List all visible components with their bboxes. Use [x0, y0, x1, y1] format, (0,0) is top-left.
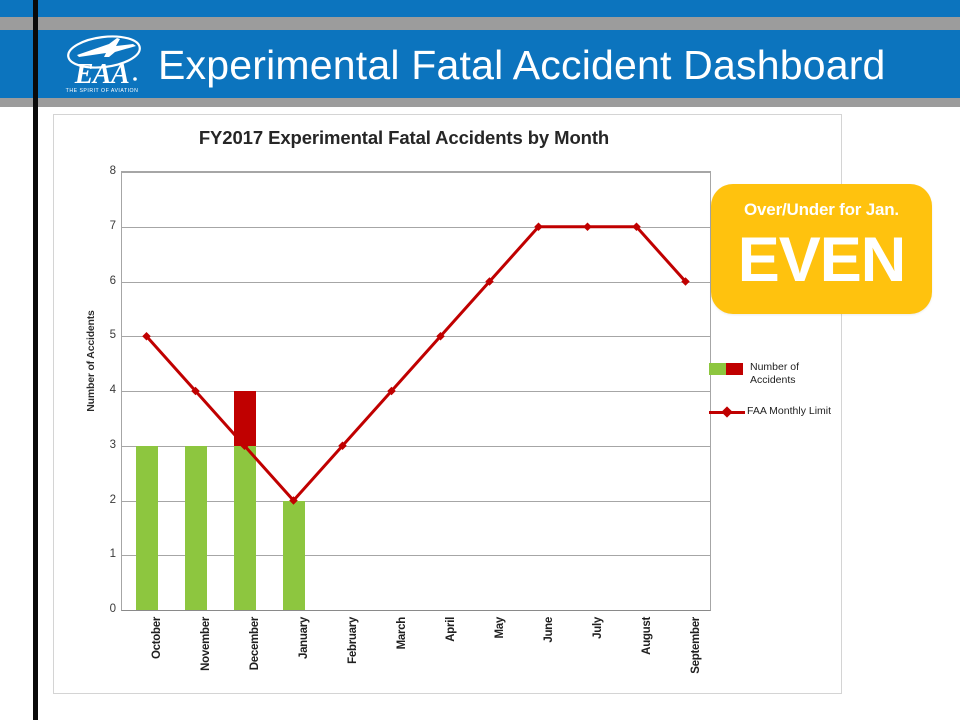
- x-tick-label: December: [249, 617, 261, 670]
- x-tick-label: November: [200, 617, 212, 671]
- callout-value: EVEN: [711, 224, 932, 296]
- eaa-logo: EAA THE SPIRIT OF AVIATION: [57, 33, 149, 95]
- x-tick-label: October: [151, 617, 163, 659]
- legend-label-line: FAA Monthly Limit: [747, 405, 831, 418]
- y-tick-label: 4: [86, 384, 116, 396]
- plot-area: [121, 171, 711, 611]
- x-tick-label: August: [641, 617, 653, 655]
- y-tick-label: 7: [86, 220, 116, 232]
- legend-swatch-red: [726, 363, 743, 375]
- faa-limit-line: [122, 172, 710, 610]
- y-tick-label: 2: [86, 494, 116, 506]
- x-tick-label: April: [445, 617, 457, 642]
- x-tick-label: September: [690, 617, 702, 674]
- y-tick-label: 1: [86, 548, 116, 560]
- legend-item-bars: Number of Accidents: [709, 361, 844, 387]
- x-tick-label: June: [543, 617, 555, 643]
- header-accent-band-top: [0, 0, 960, 17]
- y-tick-label: 8: [86, 165, 116, 177]
- y-tick-label: 3: [86, 439, 116, 451]
- svg-text:EAA: EAA: [74, 59, 130, 90]
- eaa-logo-icon: EAA THE SPIRIT OF AVIATION: [57, 33, 149, 95]
- x-tick-label: January: [298, 617, 310, 659]
- legend-swatch-bars: [709, 363, 743, 375]
- chart-title: FY2017 Experimental Fatal Accidents by M…: [54, 127, 754, 149]
- x-tick-label: March: [396, 617, 408, 649]
- x-tick-label: May: [494, 617, 506, 638]
- slide-left-rule: [33, 0, 38, 720]
- over-under-callout: Over/Under for Jan. EVEN: [711, 184, 932, 314]
- y-tick-label: 0: [86, 603, 116, 615]
- legend-marker-line: [709, 406, 745, 418]
- header-gray-band-top: [0, 17, 960, 30]
- line-marker: [583, 223, 591, 231]
- header-gray-band-bottom: [0, 98, 960, 107]
- legend-item-line: FAA Monthly Limit: [709, 405, 844, 418]
- x-axis-labels: OctoberNovemberDecemberJanuaryFebruaryMa…: [121, 613, 711, 701]
- callout-heading: Over/Under for Jan.: [711, 200, 932, 220]
- svg-text:THE SPIRIT OF AVIATION: THE SPIRIT OF AVIATION: [66, 88, 139, 94]
- slide-canvas: EAA THE SPIRIT OF AVIATION Experimental …: [0, 0, 960, 720]
- legend-label-bars: Number of Accidents: [750, 361, 844, 387]
- page-title: Experimental Fatal Accident Dashboard: [158, 36, 886, 94]
- y-tick-label: 6: [86, 275, 116, 287]
- y-tick-label: 5: [86, 329, 116, 341]
- legend-swatch-green: [709, 363, 726, 375]
- chart-legend: Number of Accidents FAA Monthly Limit: [709, 361, 844, 436]
- y-axis-ticks: 012345678: [74, 171, 116, 611]
- x-tick-label: July: [592, 617, 604, 639]
- x-tick-label: February: [347, 617, 359, 664]
